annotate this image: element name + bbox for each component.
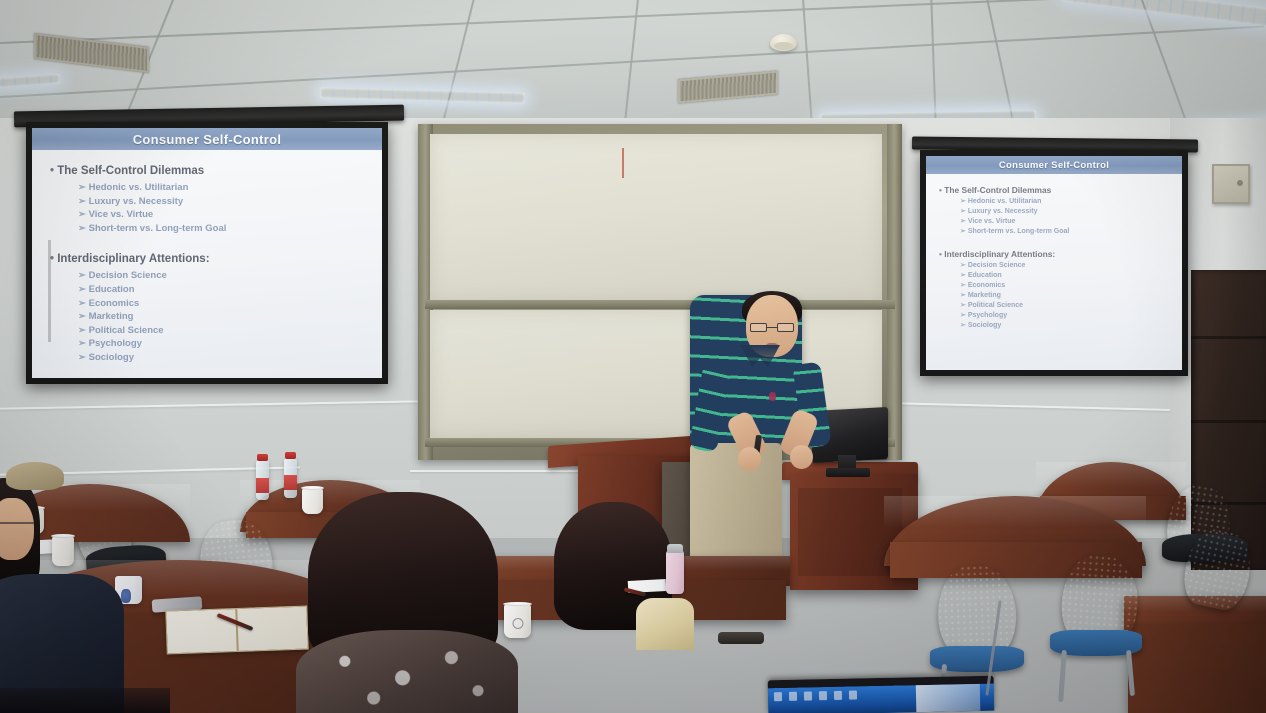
subbullet-glyph: ➢ (960, 218, 966, 225)
subitem-text: Political Science (968, 302, 1023, 309)
smoke-detector-icon (770, 34, 797, 51)
bullet-glyph: • (939, 249, 942, 259)
presenter-shoe (718, 632, 764, 644)
fluorescent-light-left (0, 74, 60, 89)
bullet-glyph: • (939, 185, 942, 195)
slide-heading-2: • Interdisciplinary Attentions: (50, 252, 382, 267)
slide-subitem: ➢ Decision Science (960, 261, 1182, 271)
attendee-center-top (296, 630, 518, 713)
paper-cup-center[interactable] (504, 604, 531, 638)
water-bottle-a[interactable] (256, 460, 269, 500)
attendee-front-left-headwear (6, 462, 64, 490)
desk-right-front-panel (1128, 624, 1266, 713)
subitem-text: Marketing (968, 292, 1001, 299)
subitem-text: Psychology (968, 312, 1007, 319)
notebook-spine (235, 609, 238, 651)
subitem-text: Sociology (89, 352, 134, 363)
heading-text: Interdisciplinary Attentions: (57, 253, 209, 265)
lecture-hall-photo: Consumer Self-Control • The Self-Control… (0, 0, 1266, 713)
chair-right-lower[interactable] (936, 565, 1017, 658)
laptop-taskbar-icons[interactable] (774, 691, 857, 702)
subbullet-glyph: ➢ (78, 270, 86, 281)
subitem-text: Education (968, 272, 1002, 279)
slide-heading-2: • Interdisciplinary Attentions: (939, 249, 1182, 260)
slide-subitem: ➢ Vice vs. Virtue (960, 217, 1182, 227)
slide-subitem: ➢ Marketing (78, 310, 382, 324)
chair-right-mid-leg (1058, 650, 1067, 702)
attendee-center (296, 492, 526, 713)
subitem-text: Hedonic vs. Utilitarian (89, 182, 189, 193)
subbullet-glyph: ➢ (78, 298, 86, 309)
subbullet-glyph: ➢ (960, 272, 966, 279)
subitem-text: Hedonic vs. Utilitarian (968, 198, 1042, 205)
presenter-left-hand (738, 447, 761, 471)
slide-subitem: ➢ Decision Science (78, 269, 382, 283)
right-projection-screen: Consumer Self-Control • The Self-Control… (920, 150, 1188, 376)
slide-title: Consumer Self-Control (926, 156, 1182, 174)
subitem-text: Vice vs. Virtue (968, 218, 1016, 225)
slide-subitem: ➢ Marketing (960, 291, 1182, 301)
subitem-text: Economics (89, 298, 140, 309)
subitem-text: Decision Science (89, 270, 167, 281)
slide-right: Consumer Self-Control • The Self-Control… (926, 156, 1182, 370)
fluorescent-light-center (320, 87, 525, 103)
bullet-glyph: • (50, 165, 54, 177)
eyeglasses-icon (750, 323, 794, 332)
open-notebook[interactable] (165, 606, 308, 655)
thermos-cap (667, 544, 683, 553)
whiteboard-upper-panel (430, 134, 882, 302)
subitem-text: Marketing (89, 311, 134, 322)
subitem-text: Psychology (89, 338, 142, 349)
laptop-screen-glare (916, 684, 981, 712)
subitem-text: Short-term vs. Long-term Goal (968, 228, 1070, 235)
pink-thermos[interactable] (666, 550, 684, 594)
polo-logo (769, 392, 776, 401)
subitem-text: Luxury vs. Necessity (89, 196, 184, 207)
slide-subitem: ➢ Vice vs. Virtue (78, 208, 382, 222)
subitem-text: Economics (968, 282, 1005, 289)
foreground-shadow-left (0, 688, 170, 713)
attendee-front-left-glasses (0, 522, 34, 532)
slide-subitem: ➢ Short-term vs. Long-term Goal (960, 227, 1182, 237)
subbullet-glyph: ➢ (78, 209, 86, 220)
attendee-center-right-top (636, 598, 694, 650)
slide-subitem: ➢ Hedonic vs. Utilitarian (960, 197, 1182, 207)
subitem-text: Luxury vs. Necessity (968, 208, 1038, 215)
slide-subitem: ➢ Hedonic vs. Utilitarian (78, 181, 382, 195)
subbullet-glyph: ➢ (78, 182, 86, 193)
slide-subitem: ➢ Psychology (960, 311, 1182, 321)
monitor-stand-base (826, 468, 870, 477)
subbullet-glyph: ➢ (960, 312, 966, 319)
slide-heading-1: • The Self-Control Dilemmas (50, 164, 382, 179)
subitem-text: Vice vs. Virtue (89, 209, 154, 220)
subitem-text: Political Science (89, 325, 164, 336)
slide-subitem: ➢ Sociology (960, 321, 1182, 331)
slide-subitem: ➢ Economics (78, 297, 382, 311)
bottle-cap-b (285, 452, 296, 459)
slide-subitem: ➢ Education (78, 283, 382, 297)
heading-text: The Self-Control Dilemmas (57, 165, 204, 177)
subbullet-glyph: ➢ (78, 352, 86, 363)
subbullet-glyph: ➢ (78, 284, 86, 295)
fluorescent-light-upper-right (1062, 0, 1266, 27)
laptop[interactable] (768, 676, 995, 713)
subbullet-glyph: ➢ (78, 223, 86, 234)
slide-subitem: ➢ Political Science (960, 301, 1182, 311)
slide-left: Consumer Self-Control • The Self-Control… (32, 128, 382, 378)
subbullet-glyph: ➢ (960, 198, 966, 205)
left-projection-screen: Consumer Self-Control • The Self-Control… (26, 122, 388, 384)
presenter-right-hand (790, 445, 813, 469)
slide-subitem: ➢ Political Science (78, 324, 382, 338)
subbullet-glyph: ➢ (960, 322, 966, 329)
slide-heading-1: • The Self-Control Dilemmas (939, 185, 1182, 196)
whiteboard-red-mark (622, 148, 624, 178)
heading-text: Interdisciplinary Attentions: (944, 249, 1055, 259)
attendee-front-left (0, 470, 104, 713)
subbullet-glyph: ➢ (78, 311, 86, 322)
subitem-text: Decision Science (968, 262, 1026, 269)
subbullet-glyph: ➢ (78, 325, 86, 336)
slide-subitem: ➢ Economics (960, 281, 1182, 291)
subbullet-glyph: ➢ (960, 208, 966, 215)
subbullet-glyph: ➢ (960, 302, 966, 309)
subbullet-glyph: ➢ (960, 262, 966, 269)
slide-subitem: ➢ Luxury vs. Necessity (78, 195, 382, 209)
bottle-cap-a (257, 454, 268, 461)
subbullet-glyph: ➢ (960, 228, 966, 235)
subbullet-glyph: ➢ (960, 292, 966, 299)
subbullet-glyph: ➢ (960, 282, 966, 289)
mug-blue-pattern (121, 589, 131, 603)
slide-subitem: ➢ Short-term vs. Long-term Goal (78, 222, 382, 236)
subitem-text: Education (89, 284, 135, 295)
slide-subitem: ➢ Sociology (78, 351, 382, 365)
subbullet-glyph: ➢ (78, 196, 86, 207)
slide-subitem: ➢ Luxury vs. Necessity (960, 207, 1182, 217)
subitem-text: Short-term vs. Long-term Goal (89, 223, 227, 234)
slide-subitem: ➢ Education (960, 271, 1182, 281)
cup-logo-icon (512, 618, 523, 629)
wall-control-box[interactable] (1212, 164, 1250, 204)
air-vent-right (678, 71, 778, 104)
slide-subitem: ➢ Psychology (78, 337, 382, 351)
heading-text: The Self-Control Dilemmas (944, 185, 1051, 195)
subbullet-glyph: ➢ (78, 338, 86, 349)
subitem-text: Sociology (968, 322, 1001, 329)
trouser-seam (48, 240, 51, 342)
slide-title: Consumer Self-Control (32, 128, 382, 150)
